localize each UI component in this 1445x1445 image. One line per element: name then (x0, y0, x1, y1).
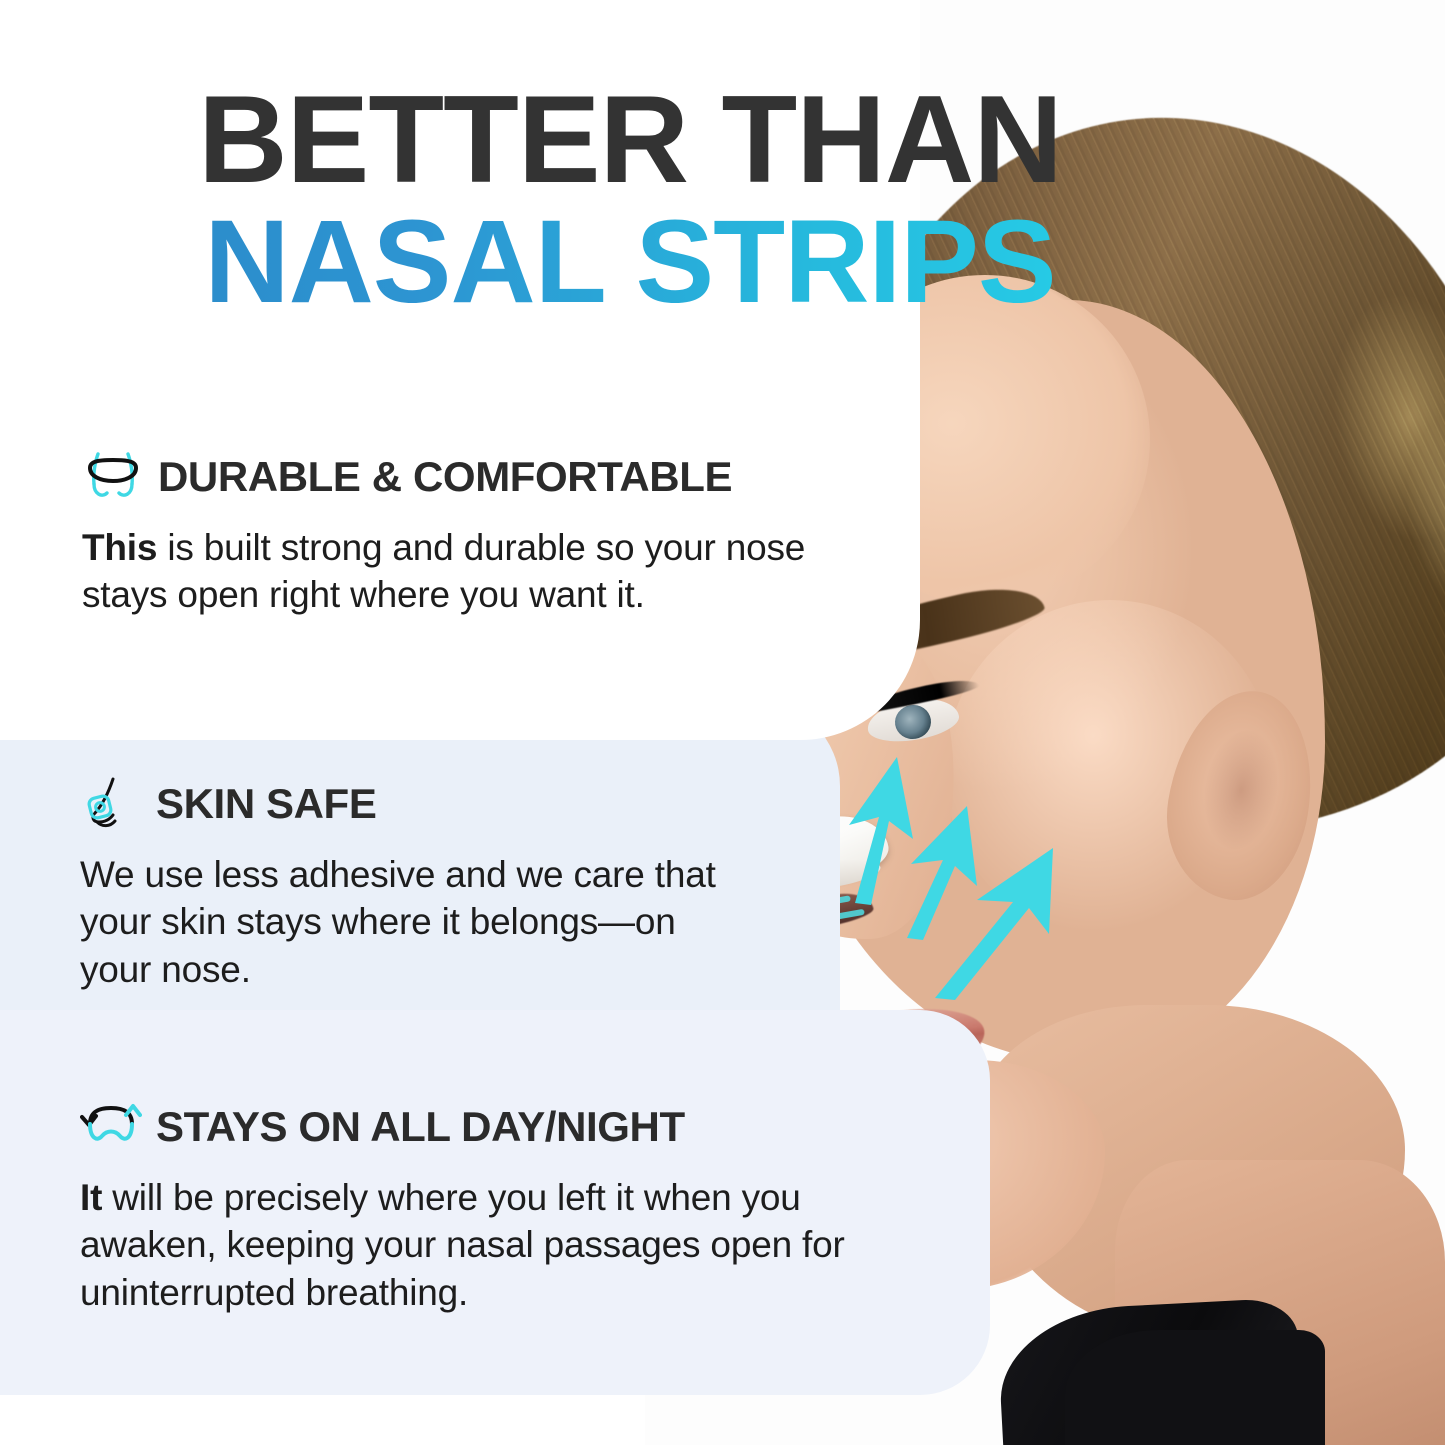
infographic-canvas: BETTER THAN NASAL STRIPS DURABLE & COMFO… (0, 0, 1445, 1445)
page-title: BETTER THAN NASAL STRIPS (0, 82, 1260, 320)
feature-heading: STAYS ON ALL DAY/NIGHT (80, 1098, 920, 1156)
feature-lead-word: This (82, 527, 157, 568)
black-garment-fold (1065, 1330, 1325, 1445)
title-line-2: NASAL STRIPS (0, 205, 1260, 321)
feature-lead-word: It (80, 1177, 102, 1218)
feature-body-text: We use less adhesive and we care that yo… (80, 854, 716, 990)
airflow-arrow-3 (925, 840, 1085, 1000)
feature-title: DURABLE & COMFORTABLE (158, 453, 732, 501)
all-day-cycle-icon (80, 1098, 142, 1156)
feature-heading: DURABLE & COMFORTABLE (82, 448, 842, 506)
feature-body: We use less adhesive and we care that yo… (80, 851, 720, 993)
feature-block-skin-safe: SKIN SAFE We use less adhesive and we ca… (80, 775, 720, 993)
feature-block-durable: DURABLE & COMFORTABLE This is built stro… (82, 448, 842, 619)
feature-title: STAYS ON ALL DAY/NIGHT (156, 1103, 685, 1151)
feature-heading: SKIN SAFE (80, 775, 720, 833)
feature-body-text: is built strong and durable so your nose… (82, 527, 805, 615)
feature-body-text: will be precisely where you left it when… (80, 1177, 845, 1313)
feature-block-stays-on: STAYS ON ALL DAY/NIGHT It will be precis… (80, 1098, 920, 1316)
feature-title: SKIN SAFE (156, 780, 376, 828)
nose-profile-patch-icon (80, 775, 142, 833)
title-line-1: BETTER THAN (0, 82, 1260, 199)
nasal-dilator-icon (82, 448, 144, 506)
feature-body: This is built strong and durable so your… (82, 524, 842, 619)
feature-body: It will be precisely where you left it w… (80, 1174, 920, 1316)
